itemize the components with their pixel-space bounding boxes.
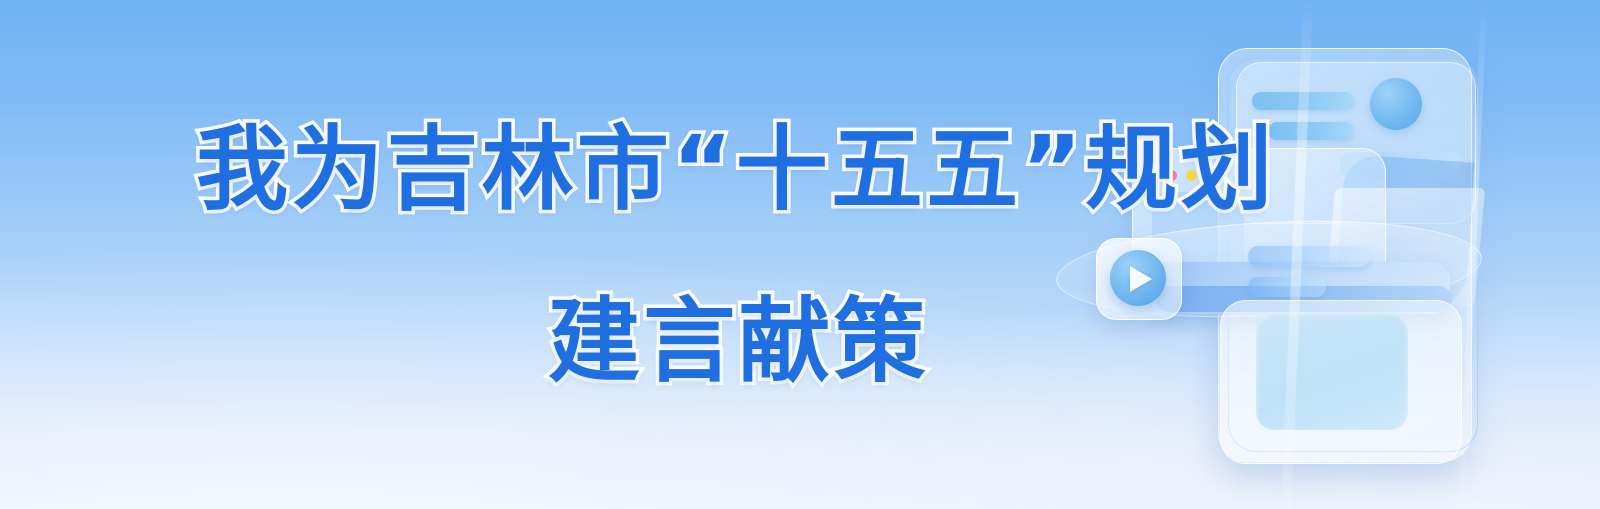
lower-panel-image-block <box>1256 312 1408 430</box>
banner-title-block: 我为吉林市“十五五”规划 建言献策 <box>0 0 1090 509</box>
traffic-dot-yellow-icon <box>1186 170 1197 181</box>
promo-banner: 我为吉林市“十五五”规划 建言献策 <box>0 0 1600 509</box>
illustration <box>1040 0 1600 509</box>
traffic-dot-green-icon <box>1206 170 1217 181</box>
text-bar-secondary <box>1268 122 1354 140</box>
traffic-dot-red-icon <box>1166 170 1177 181</box>
play-icon <box>1130 266 1152 292</box>
text-strip-short <box>1248 277 1326 297</box>
text-strip-long <box>1248 246 1370 267</box>
banner-title-line-2: 建言献策 <box>548 292 929 392</box>
avatar-circle-icon <box>1370 78 1422 130</box>
